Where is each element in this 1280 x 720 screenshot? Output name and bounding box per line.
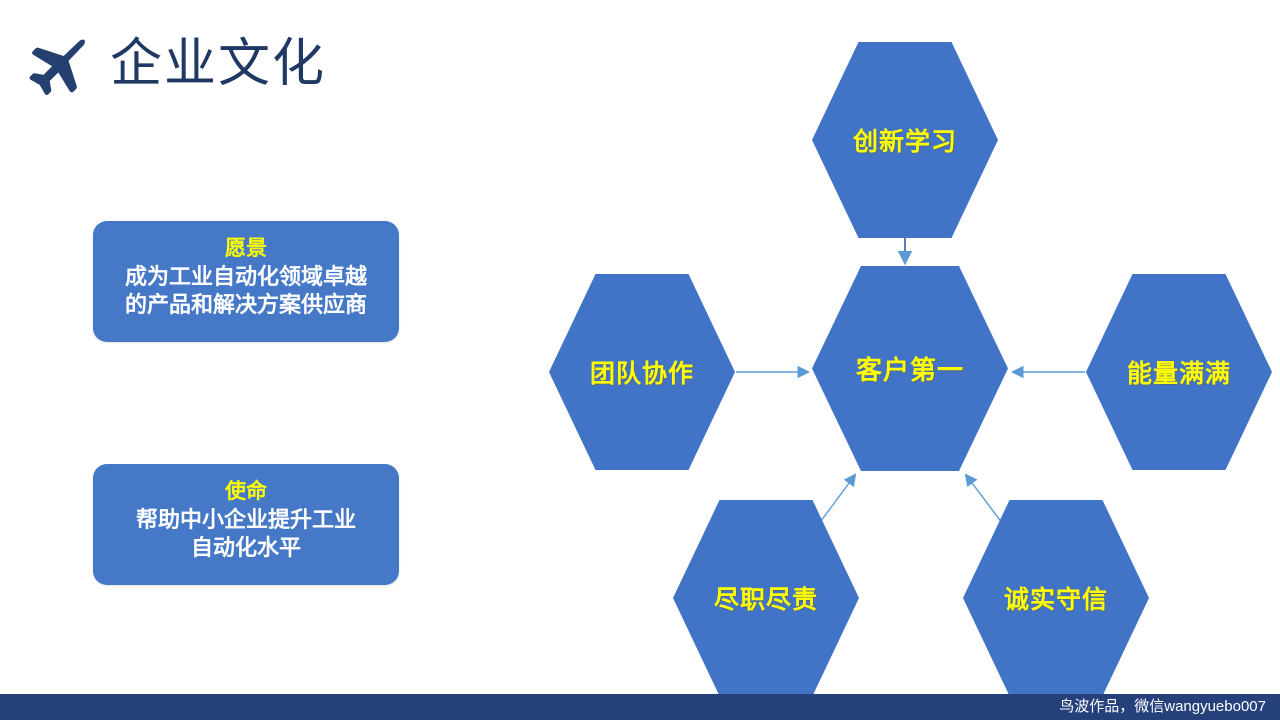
footer-credit-text: 鸟波作品，微信wangyuebo007 [1059,697,1266,717]
hex-label-customer-first: 客户第一 [856,350,964,387]
hex-node-integrity[interactable]: 诚实守信 [963,500,1149,696]
hex-label-responsibility: 尽职尽责 [714,580,818,616]
footer-bar: 鸟波作品，微信wangyuebo007 [0,694,1280,720]
slide-canvas: 企业文化 愿景 成为工业自动化领域卓越 的产品和解决方案供应商 使命 帮助中小企… [0,0,1280,720]
vision-card: 愿景 成为工业自动化领域卓越 的产品和解决方案供应商 [93,221,399,342]
page-title: 企业文化 [110,30,326,98]
hex-node-innovation[interactable]: 创新学习 [812,42,998,238]
hex-label-teamwork: 团队协作 [590,354,694,390]
hex-node-customer-first[interactable]: 客户第一 [812,266,1008,471]
hex-node-teamwork[interactable]: 团队协作 [549,274,735,470]
hex-label-energy: 能量满满 [1127,354,1231,390]
mission-card-title: 使命 [103,478,389,505]
vision-card-title: 愿景 [103,235,389,262]
mission-card: 使命 帮助中小企业提升工业 自动化水平 [93,464,399,585]
airplane-icon [22,32,94,104]
hex-label-integrity: 诚实守信 [1004,580,1108,616]
hex-node-responsibility[interactable]: 尽职尽责 [673,500,859,696]
mission-card-body: 帮助中小企业提升工业 自动化水平 [103,506,389,562]
hex-node-energy[interactable]: 能量满满 [1086,274,1272,470]
vision-card-body: 成为工业自动化领域卓越 的产品和解决方案供应商 [103,263,389,319]
hex-label-innovation: 创新学习 [853,122,957,158]
culture-hexagon-diagram: 创新学习 团队协作 客户第一 能量满满 尽职尽责 诚实守信 [540,0,1280,700]
slide-header: 企业文化 [0,0,520,120]
